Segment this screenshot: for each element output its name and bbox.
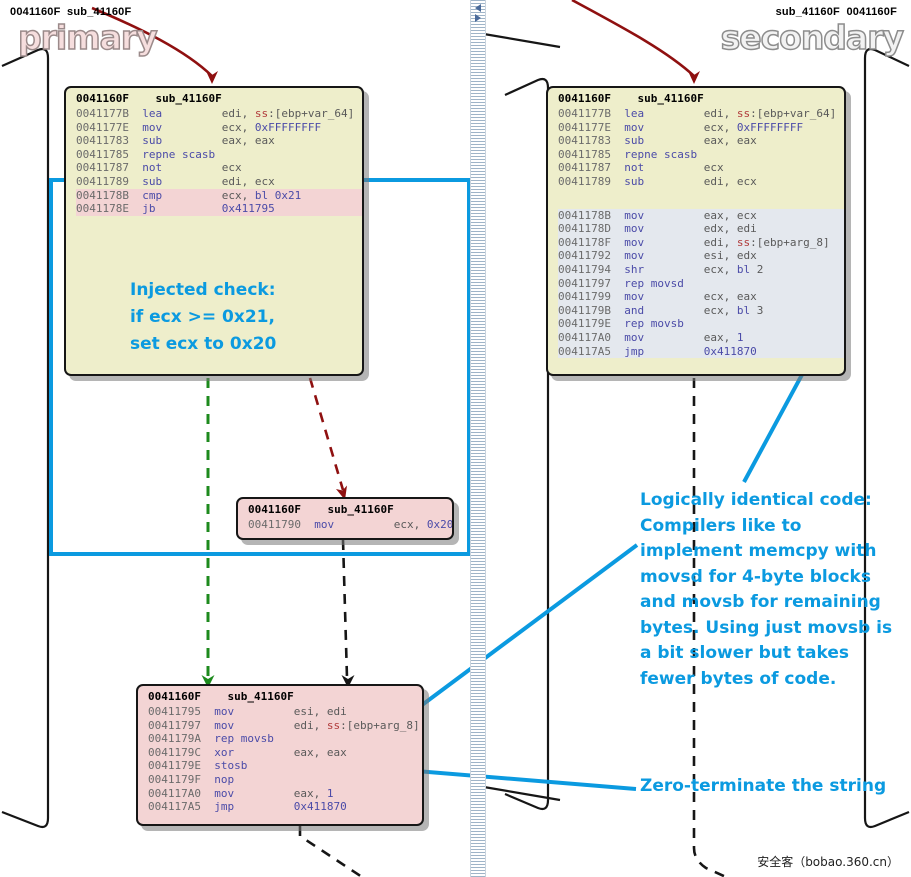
secondary-panel-header: sub_41160F 0041160F	[776, 6, 897, 18]
instruction-row[interactable]: 0041179E stosb	[148, 759, 422, 773]
annotation-logically-identical: Logically identical code: Compilers like…	[640, 488, 898, 692]
instruction-row[interactable]: 0041177B lea edi, ss:[ebp+var_64]	[558, 107, 844, 121]
annotation-injected-check: Injected check: if ecx >= 0x21, set ecx …	[130, 277, 276, 358]
instruction-row[interactable]: 004117A5 jmp 0x411870	[148, 800, 422, 814]
annotation-zero-terminate: Zero-terminate the string	[640, 776, 886, 796]
instruction-row[interactable]: 0041177B lea edi, ss:[ebp+var_64]	[76, 107, 362, 121]
triangle-left-icon[interactable]	[475, 4, 481, 12]
site-watermark: 安全客（bobao.360.cn）	[757, 853, 899, 870]
instruction-row[interactable]: 00411783 sub eax, eax	[558, 134, 844, 148]
block-title: 0041160F sub_41160F	[238, 499, 452, 518]
instruction-list: 0041177B lea edi, ss:[ebp+var_64]0041177…	[548, 107, 844, 358]
instruction-row[interactable]: 00411792 mov esi, edx	[558, 249, 844, 263]
splitter-arrows[interactable]	[471, 2, 485, 28]
instruction-row[interactable]: 00411783 sub eax, eax	[76, 134, 362, 148]
instruction-row[interactable]: 00411785 repne scasb	[76, 148, 362, 162]
triangle-right-icon[interactable]	[475, 14, 481, 22]
diagram-canvas: 0041160F sub_41160F primary sub_41160F 0…	[0, 0, 911, 877]
block-title: 0041160F sub_41160F	[66, 88, 362, 107]
block-title: 0041160F sub_41160F	[548, 88, 844, 107]
instruction-row[interactable]: 00411797 mov edi, ss:[ebp+arg_8]	[148, 719, 422, 733]
instruction-row[interactable]: 00411785 repne scasb	[558, 148, 844, 162]
instruction-row[interactable]: 00411790 mov ecx, 0x20	[248, 518, 452, 532]
instruction-row[interactable]: 0041179E rep movsb	[558, 317, 844, 331]
instruction-row[interactable]: 0041177E mov ecx, 0xFFFFFFFF	[558, 121, 844, 135]
annotation-line-2: if ecx >= 0x21,	[130, 304, 276, 331]
panel-splitter[interactable]	[470, 0, 486, 877]
annotation-line-1: Injected check:	[130, 277, 276, 304]
instruction-list: 0041177B lea edi, ss:[ebp+var_64]0041177…	[66, 107, 362, 216]
instruction-row[interactable]: 00411797 rep movsd	[558, 277, 844, 291]
instruction-row[interactable]: 0041179F nop	[148, 773, 422, 787]
instruction-row[interactable]: 0041179B and ecx, bl 3	[558, 304, 844, 318]
instruction-row[interactable]: 0041179A rep movsb	[148, 732, 422, 746]
instruction-row[interactable]: 00411787 not ecx	[558, 161, 844, 175]
code-block-secondary-main[interactable]: 0041160F sub_41160F 0041177B lea edi, ss…	[546, 86, 846, 376]
instruction-row[interactable]: 0041178B mov eax, ecx	[558, 209, 844, 223]
instruction-row[interactable]: 0041179C xor eax, eax	[148, 746, 422, 760]
primary-watermark: primary	[18, 18, 157, 57]
instruction-row[interactable]: 0041178E jb 0x411795	[76, 202, 362, 216]
instruction-row[interactable]: 00411787 not ecx	[76, 161, 362, 175]
instruction-row[interactable]: 00411799 mov ecx, eax	[558, 290, 844, 304]
block-title: 0041160F sub_41160F	[138, 686, 422, 705]
primary-panel-header: 0041160F sub_41160F	[10, 6, 131, 18]
instruction-row[interactable]: 004117A0 mov eax, 1	[558, 331, 844, 345]
instruction-row[interactable]: 004117A0 mov eax, 1	[148, 787, 422, 801]
instruction-row[interactable]: 00411795 mov esi, edi	[148, 705, 422, 719]
secondary-watermark: secondary	[721, 18, 903, 57]
instruction-list: 00411790 mov ecx, 0x20	[238, 518, 452, 532]
annotation-line-3: set ecx to 0x20	[130, 331, 276, 358]
instruction-row[interactable]: 00411789 sub edi, ecx	[76, 175, 362, 189]
instruction-list: 00411795 mov esi, edi00411797 mov edi, s…	[138, 705, 422, 814]
code-block-primary-small[interactable]: 0041160F sub_41160F 00411790 mov ecx, 0x…	[236, 497, 454, 540]
instruction-row[interactable]: 00411789 sub edi, ecx	[558, 175, 844, 189]
instruction-row[interactable]: 004117A5 jmp 0x411870	[558, 345, 844, 359]
instruction-row[interactable]: 0041177E mov ecx, 0xFFFFFFFF	[76, 121, 362, 135]
instruction-row[interactable]: 0041178D mov edx, edi	[558, 222, 844, 236]
instruction-row[interactable]: 0041178B cmp ecx, bl 0x21	[76, 189, 362, 203]
code-block-primary-bottom[interactable]: 0041160F sub_41160F 00411795 mov esi, ed…	[136, 684, 424, 826]
instruction-row[interactable]: 00411794 shr ecx, bl 2	[558, 263, 844, 277]
instruction-row[interactable]: 0041178F mov edi, ss:[ebp+arg_8]	[558, 236, 844, 250]
